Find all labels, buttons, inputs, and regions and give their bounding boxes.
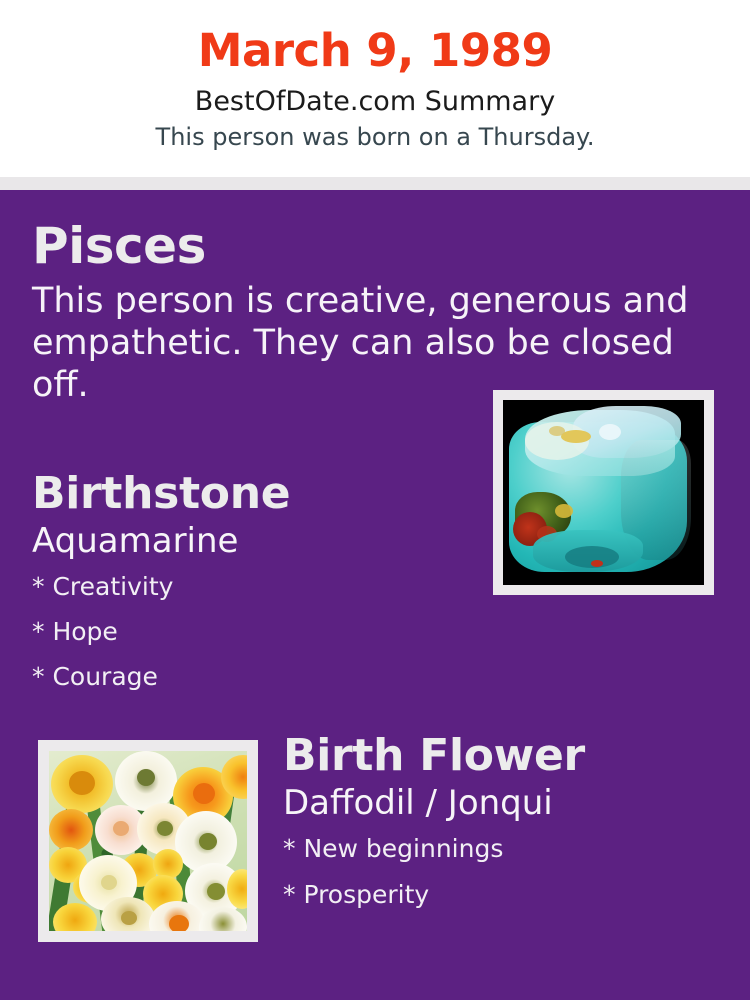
zodiac-description: This person is creative, generous and em… <box>32 274 697 406</box>
list-item: * Creativity <box>32 564 472 609</box>
list-item: * New beginnings <box>283 826 743 872</box>
birth-flower-heading: Birth Flower <box>283 730 743 782</box>
list-item: * Courage <box>32 654 472 699</box>
header-divider <box>0 177 750 190</box>
birthstone-image-frame <box>493 390 714 595</box>
birthstone-trait-list: * Creativity * Hope * Courage <box>32 562 472 699</box>
birth-flower-name: Daffodil / Jonqui <box>283 782 743 824</box>
birthstone-text-block: Birthstone Aquamarine * Creativity * Hop… <box>32 468 472 699</box>
birth-flower-text-block: Birth Flower Daffodil / Jonqui * New beg… <box>283 730 743 918</box>
main-panel: Pisces This person is creative, generous… <box>0 190 750 1000</box>
header: March 9, 1989 BestOfDate.com Summary Thi… <box>0 0 750 177</box>
birthstone-heading: Birthstone <box>32 468 472 520</box>
birth-day-note: This person was born on a Thursday. <box>0 118 750 152</box>
aquamarine-crystal-photo <box>503 400 704 585</box>
birth-flower-image-frame <box>38 740 258 942</box>
birth-flower-trait-list: * New beginnings * Prosperity <box>283 824 743 918</box>
zodiac-section: Pisces This person is creative, generous… <box>32 218 722 406</box>
page-title: March 9, 1989 <box>0 0 750 78</box>
list-item: * Prosperity <box>283 872 743 918</box>
summary-card: March 9, 1989 BestOfDate.com Summary Thi… <box>0 0 750 1000</box>
daffodil-flowers-photo <box>49 751 247 931</box>
birthstone-name: Aquamarine <box>32 520 472 562</box>
zodiac-sign-heading: Pisces <box>32 218 722 274</box>
site-summary-label: BestOfDate.com Summary <box>0 78 750 118</box>
list-item: * Hope <box>32 609 472 654</box>
